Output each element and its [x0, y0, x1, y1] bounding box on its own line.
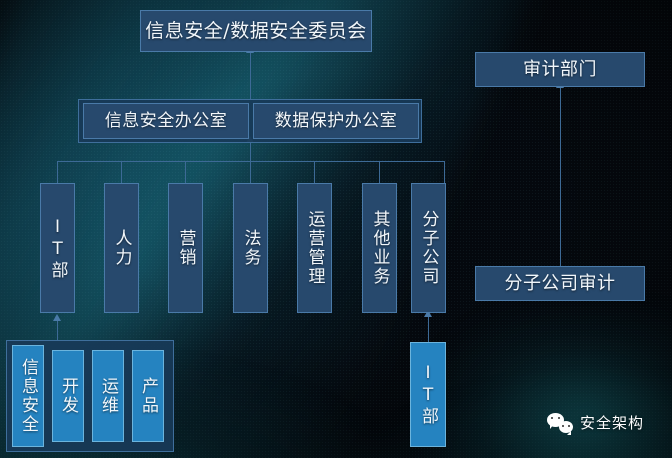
node-dept-operations[interactable]: 运营管理: [297, 183, 332, 313]
connector-offices-to-committee: [250, 52, 251, 100]
connector-subsidiary-audit-to-audit-dept: [560, 87, 561, 267]
connector-bus-to-offices: [250, 142, 251, 161]
connector-subsidiary-it-to-subsidiary: [428, 316, 429, 342]
connector-it-teams-to-it-dept: [57, 320, 58, 340]
connector-drop-hr: [121, 161, 122, 183]
node-infosec-office-label: 信息安全办公室: [105, 111, 228, 131]
node-team-development[interactable]: 开发: [52, 350, 84, 442]
connector-drop-subsidiary: [444, 161, 445, 183]
node-dept-operations-label: 运营管理: [304, 210, 324, 286]
node-dept-other-business-label: 其他业务: [369, 210, 389, 286]
connector-drop-marketing: [185, 161, 186, 183]
node-subsidiary-it-dept-label: IT部: [418, 363, 438, 426]
node-team-infosec[interactable]: 信息安全: [12, 345, 44, 447]
node-team-development-label: 开发: [58, 377, 78, 415]
node-dept-subsidiary[interactable]: 分子公司: [411, 183, 446, 313]
connector-drop-it: [57, 161, 58, 183]
org-chart-canvas: 信息安全/数据安全委员会 信息安全办公室 数据保护办公室 IT部 人力 营销 法…: [0, 0, 672, 458]
node-data-protection-office-label: 数据保护办公室: [275, 111, 398, 131]
node-team-operations-maintenance-label: 运维: [98, 377, 118, 415]
node-dept-subsidiary-label: 分子公司: [418, 210, 438, 286]
node-dept-hr[interactable]: 人力: [104, 183, 139, 313]
arrow-it-teams-to-it-dept: [53, 314, 61, 321]
node-audit-department[interactable]: 审计部门: [475, 52, 645, 87]
node-infosec-office[interactable]: 信息安全办公室: [83, 103, 249, 139]
watermark: 安全架构: [547, 412, 644, 433]
node-team-operations-maintenance[interactable]: 运维: [92, 350, 124, 442]
node-subsidiary-it-dept[interactable]: IT部: [410, 342, 446, 447]
node-dept-it-label: IT部: [47, 217, 67, 280]
node-dept-hr-label: 人力: [111, 229, 131, 267]
connector-drop-other: [379, 161, 380, 183]
node-data-protection-office[interactable]: 数据保护办公室: [253, 103, 419, 139]
node-dept-legal-label: 法务: [240, 229, 260, 267]
node-team-product[interactable]: 产品: [132, 350, 164, 442]
connector-drop-operations: [314, 161, 315, 183]
node-dept-legal[interactable]: 法务: [233, 183, 268, 313]
node-subsidiary-audit-label: 分子公司审计: [505, 273, 616, 294]
node-audit-department-label: 审计部门: [523, 59, 597, 80]
node-dept-it[interactable]: IT部: [40, 183, 75, 313]
node-dept-marketing-label: 营销: [175, 229, 195, 267]
node-team-infosec-label: 信息安全: [18, 358, 38, 434]
node-dept-marketing[interactable]: 营销: [168, 183, 203, 313]
node-committee-label: 信息安全/数据安全委员会: [145, 20, 366, 42]
node-team-product-label: 产品: [138, 377, 158, 415]
wechat-icon: [547, 413, 573, 433]
watermark-text: 安全架构: [580, 412, 644, 433]
node-subsidiary-audit[interactable]: 分子公司审计: [475, 266, 645, 301]
node-dept-other-business[interactable]: 其他业务: [362, 183, 397, 313]
connector-drop-legal: [250, 161, 251, 183]
node-committee[interactable]: 信息安全/数据安全委员会: [140, 10, 372, 52]
